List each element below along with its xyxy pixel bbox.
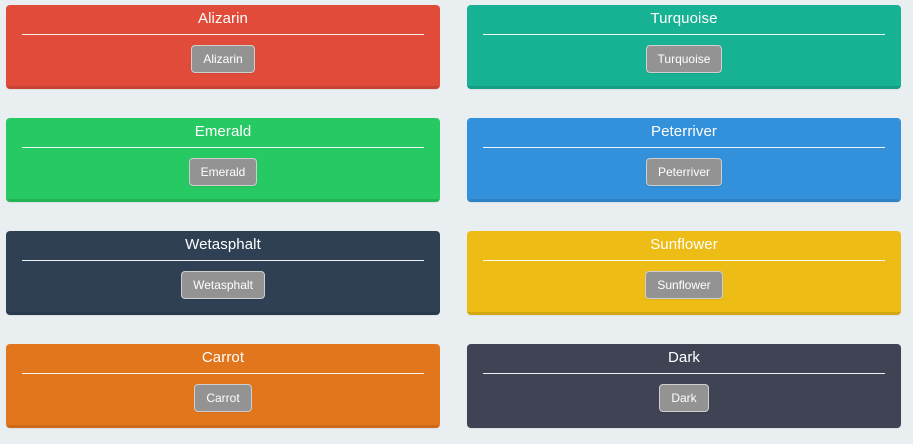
panel-button-carrot[interactable]: Carrot — [194, 384, 251, 412]
panel-body: Emerald — [6, 148, 440, 202]
panel-body: Sunflower — [467, 261, 901, 315]
panel-heading: Sunflower — [467, 231, 901, 255]
panel-title: Alizarin — [22, 9, 424, 29]
panel-button-alizarin[interactable]: Alizarin — [191, 45, 254, 73]
panel-body: Wetasphalt — [6, 261, 440, 315]
panel-button-wetasphalt[interactable]: Wetasphalt — [181, 271, 265, 299]
panel-body: Carrot — [6, 374, 440, 428]
panel-heading: Dark — [467, 344, 901, 368]
panel-button-emerald[interactable]: Emerald — [189, 158, 258, 186]
panel-sunflower: Sunflower Sunflower — [467, 231, 901, 315]
panel-title: Sunflower — [483, 235, 885, 255]
panel-body: Alizarin — [6, 35, 440, 89]
panel-turquoise: Turquoise Turquoise — [467, 5, 901, 89]
panel-button-sunflower[interactable]: Sunflower — [645, 271, 722, 299]
panel-title: Carrot — [22, 348, 424, 368]
panel-title: Emerald — [22, 122, 424, 142]
panel-title: Dark — [483, 348, 885, 368]
panel-heading: Emerald — [6, 118, 440, 142]
panel-title: Peterriver — [483, 122, 885, 142]
panel-heading: Peterriver — [467, 118, 901, 142]
panel-title: Wetasphalt — [22, 235, 424, 255]
panel-title: Turquoise — [483, 9, 885, 29]
panel-grid: Alizarin Alizarin Turquoise Turquoise Em… — [0, 0, 913, 444]
panel-peterriver: Peterriver Peterriver — [467, 118, 901, 202]
panel-heading: Wetasphalt — [6, 231, 440, 255]
panel-wetasphalt: Wetasphalt Wetasphalt — [6, 231, 440, 315]
panel-body: Turquoise — [467, 35, 901, 89]
panel-heading: Turquoise — [467, 5, 901, 29]
panel-button-dark[interactable]: Dark — [659, 384, 708, 412]
panel-heading: Alizarin — [6, 5, 440, 29]
panel-carrot: Carrot Carrot — [6, 344, 440, 428]
panel-heading: Carrot — [6, 344, 440, 368]
panel-body: Peterriver — [467, 148, 901, 202]
panel-button-peterriver[interactable]: Peterriver — [646, 158, 722, 186]
panel-alizarin: Alizarin Alizarin — [6, 5, 440, 89]
panel-dark: Dark Dark — [467, 344, 901, 428]
panel-emerald: Emerald Emerald — [6, 118, 440, 202]
panel-button-turquoise[interactable]: Turquoise — [646, 45, 723, 73]
panel-body: Dark — [467, 374, 901, 428]
